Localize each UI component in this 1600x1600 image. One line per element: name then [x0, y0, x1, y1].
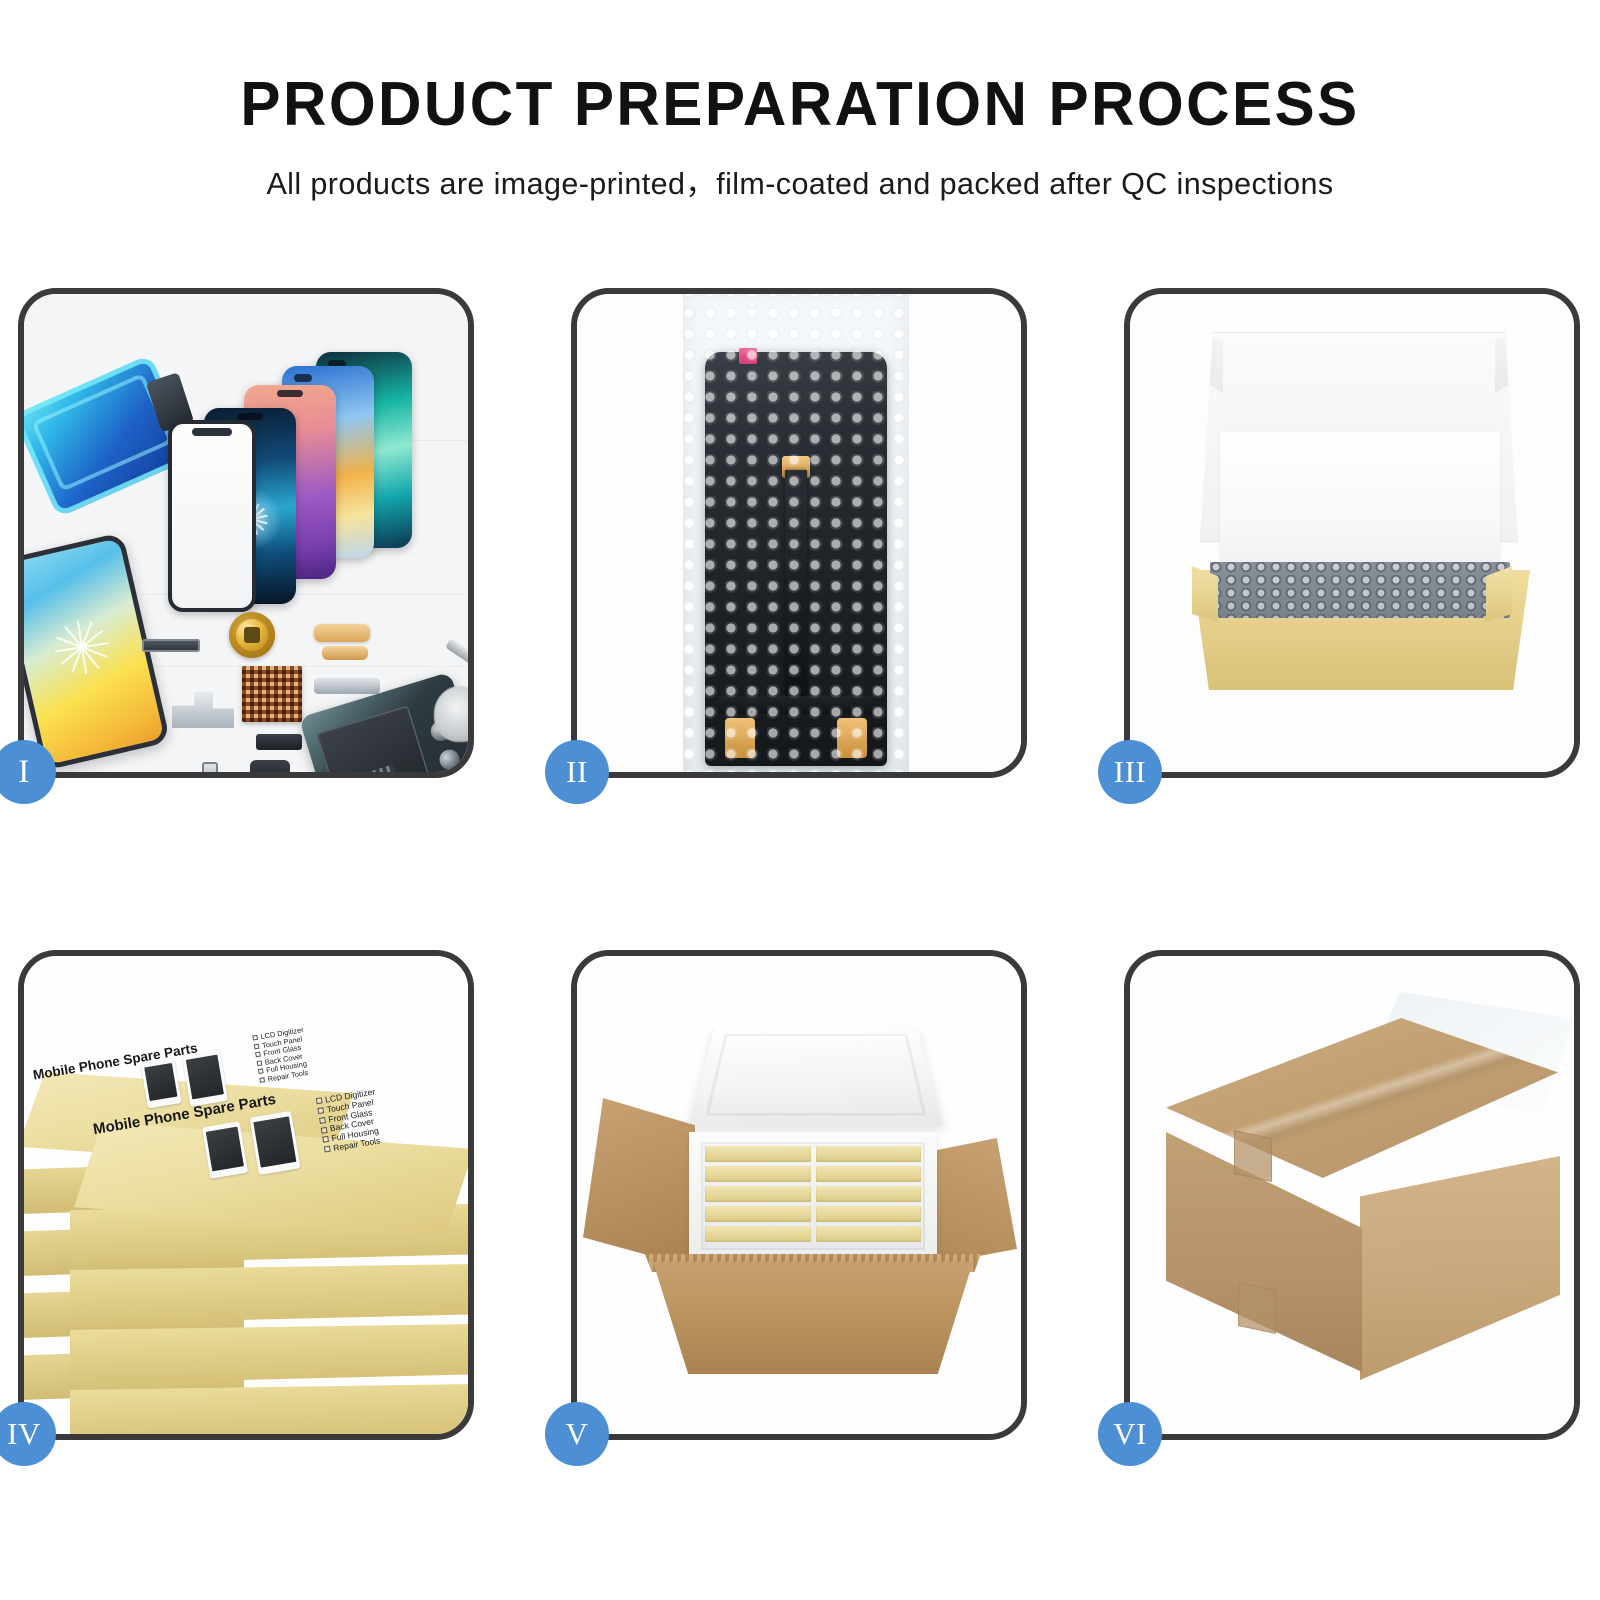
flex-cable-part-c: [314, 678, 380, 694]
step-image-1: [24, 294, 468, 772]
page-title: PRODUCT PREPARATION PROCESS: [24, 72, 1576, 137]
step-image-3: [1130, 294, 1574, 772]
box-slab: [70, 1324, 468, 1384]
page-subtitle: All products are image-printed，film-coat…: [0, 159, 1600, 203]
sim-tray-part: [202, 762, 218, 772]
step-image-6: [1130, 956, 1574, 1434]
shatter-pattern-icon: [25, 590, 140, 705]
process-step-grid: I: [18, 288, 1582, 1440]
pry-tool: [445, 638, 468, 673]
step-badge-1: I: [0, 740, 56, 804]
step-badge-4: IV: [0, 1402, 56, 1466]
box-slab: [70, 1384, 468, 1434]
wireless-charge-coil-part: [229, 612, 275, 658]
foam-lid: [688, 1027, 944, 1127]
ic-chip-part: [242, 666, 302, 722]
step-panel-2: II: [571, 288, 1027, 778]
phone-lineup: [164, 352, 464, 602]
flex-cable-part-a: [314, 624, 370, 642]
retail-box-checklist-lower: LCD Digitizer Touch Panel Front Glass Ba…: [316, 1087, 384, 1155]
shipping-carton-open: [653, 1262, 973, 1374]
speaker-part: [142, 639, 200, 652]
step-badge-5: V: [545, 1402, 609, 1466]
step-badge-6: VI: [1098, 1402, 1162, 1466]
step-panel-1: I: [18, 288, 474, 778]
retail-box-stack: Mobile Phone Spare Parts LCD Digitizer T…: [24, 1008, 468, 1434]
vibrator-part: [256, 734, 302, 750]
bubble-wrap-layer: [1210, 562, 1510, 618]
foam-pad: [1220, 432, 1500, 580]
button-assembly-part: [250, 760, 290, 772]
infographic-page: PRODUCT PREPARATION PROCESS All products…: [0, 0, 1600, 1600]
step-image-5: [577, 956, 1021, 1434]
carton-flap-left: [583, 1098, 695, 1268]
step-panel-6: VI: [1124, 950, 1580, 1440]
step-image-2: [577, 294, 1021, 772]
front-glass-part: [168, 420, 256, 612]
step-badge-2: II: [545, 740, 609, 804]
packed-retail-boxes: [705, 1146, 921, 1242]
bubble-wrap-sleeve: [683, 294, 909, 772]
step-image-4: Mobile Phone Spare Parts LCD Digitizer T…: [24, 956, 468, 1434]
step-panel-3: III: [1124, 288, 1580, 778]
tape-strip-bottom: [1238, 1282, 1276, 1334]
retail-box-checklist-upper: LCD Digitizer Touch Panel Front Glass Ba…: [252, 1026, 311, 1085]
flex-cable-part-b: [322, 646, 368, 660]
qc-sticker: [739, 348, 757, 364]
step-badge-3: III: [1098, 740, 1162, 804]
header: PRODUCT PREPARATION PROCESS All products…: [0, 0, 1600, 203]
step-panel-5: V: [571, 950, 1027, 1440]
flex-cable-part-d: [172, 692, 234, 728]
tape-strip-top: [1234, 1130, 1272, 1182]
screen-assembly: [705, 352, 887, 766]
step-panel-4: Mobile Phone Spare Parts LCD Digitizer T…: [18, 950, 474, 1440]
box-slab: [70, 1264, 468, 1324]
carton-side-face: [1360, 1156, 1560, 1380]
